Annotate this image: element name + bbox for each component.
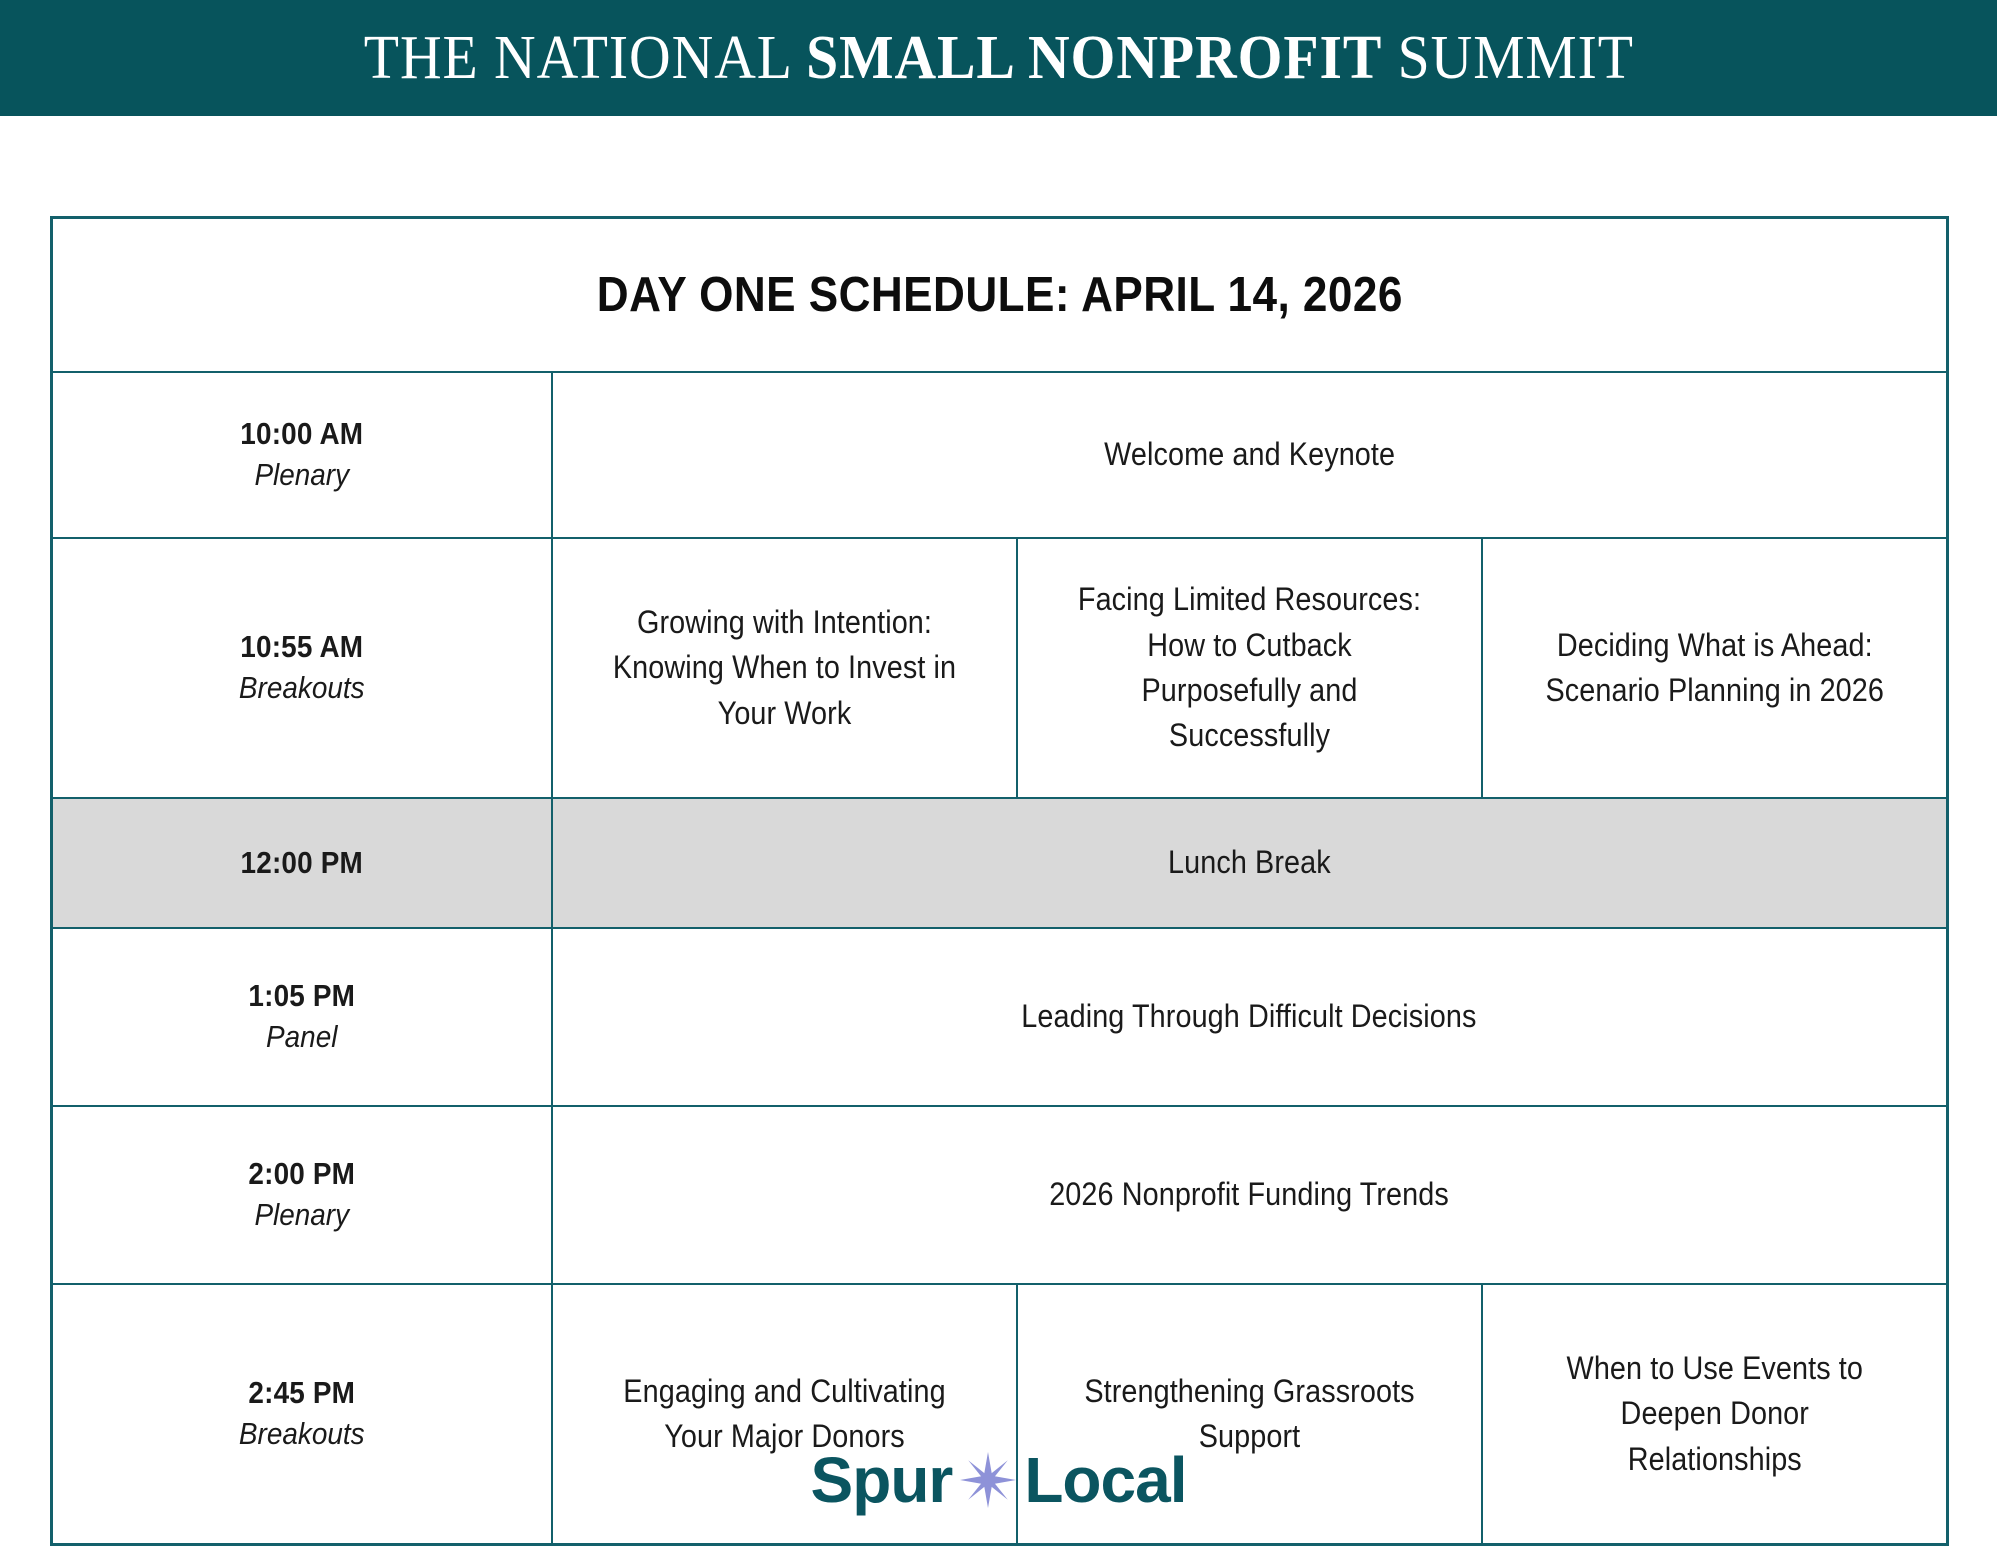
session-kind-label: Panel [87,1017,517,1058]
session-cell: Lunch Break [552,798,1948,928]
session-cell: 2026 Nonprofit Funding Trends [552,1106,1948,1284]
spur-local-logo: Spur Local [0,1432,1997,1528]
starburst-icon [958,1450,1018,1510]
page-body: DAY ONE SCHEDULE: APRIL 14, 2026 10:00 A… [0,116,1997,1544]
session-title: 2026 Nonprofit Funding Trends [1049,1172,1449,1217]
time-cell: 10:55 AM Breakouts [52,538,552,798]
time-cell: 12:00 PM [52,798,552,928]
logo-word-spur: Spur [811,1448,953,1512]
time-cell: 1:05 PM Panel [52,928,552,1106]
session-title: Welcome and Keynote [1104,432,1395,477]
session-title: Facing Limited Resources: How to Cutback… [1064,577,1434,759]
time-cell: 10:00 AM Plenary [52,372,552,538]
session-title: Leading Through Difficult Decisions [1022,994,1477,1039]
schedule-header-title: DAY ONE SCHEDULE: APRIL 14, 2026 [596,267,1402,323]
time-label: 2:45 PM [87,1373,517,1414]
schedule-header-row: DAY ONE SCHEDULE: APRIL 14, 2026 [52,218,1948,373]
time-label: 1:05 PM [87,976,517,1017]
time-label: 10:55 AM [87,627,517,668]
table-row: 10:55 AM Breakouts Growing with Intentio… [52,538,1948,798]
event-title-part-3: SUMMIT [1382,24,1634,92]
time-label: 12:00 PM [87,843,517,884]
schedule-header-cell: DAY ONE SCHEDULE: APRIL 14, 2026 [52,218,1948,373]
session-title: Deciding What is Ahead: Scenario Plannin… [1529,623,1899,714]
session-cell: Leading Through Difficult Decisions [552,928,1948,1106]
session-cell: Growing with Intention: Knowing When to … [552,538,1017,798]
logo-word-local: Local [1024,1448,1186,1512]
table-row: 1:05 PM Panel Leading Through Difficult … [52,928,1948,1106]
session-cell: Deciding What is Ahead: Scenario Plannin… [1482,538,1948,798]
time-label: 10:00 AM [87,414,517,455]
session-cell: Facing Limited Resources: How to Cutback… [1017,538,1482,798]
schedule-table: DAY ONE SCHEDULE: APRIL 14, 2026 10:00 A… [50,216,1949,1546]
table-row: 2:00 PM Plenary 2026 Nonprofit Funding T… [52,1106,1948,1284]
session-kind-label: Plenary [87,455,517,496]
session-cell: Welcome and Keynote [552,372,1948,538]
event-title-part-2: SMALL NONPROFIT [806,24,1382,92]
session-title: Lunch Break [1168,840,1331,885]
event-banner: THE NATIONAL SMALL NONPROFIT SUMMIT [0,0,1997,116]
table-row: 10:00 AM Plenary Welcome and Keynote [52,372,1948,538]
table-row: 12:00 PM Lunch Break [52,798,1948,928]
session-kind-label: Breakouts [87,668,517,709]
session-title: Growing with Intention: Knowing When to … [599,600,969,736]
session-kind-label: Plenary [87,1195,517,1236]
schedule-container: DAY ONE SCHEDULE: APRIL 14, 2026 10:00 A… [50,216,1946,1546]
time-cell: 2:00 PM Plenary [52,1106,552,1284]
event-title: THE NATIONAL SMALL NONPROFIT SUMMIT [363,27,1633,89]
event-title-part-1: THE NATIONAL [363,24,805,92]
time-label: 2:00 PM [87,1154,517,1195]
